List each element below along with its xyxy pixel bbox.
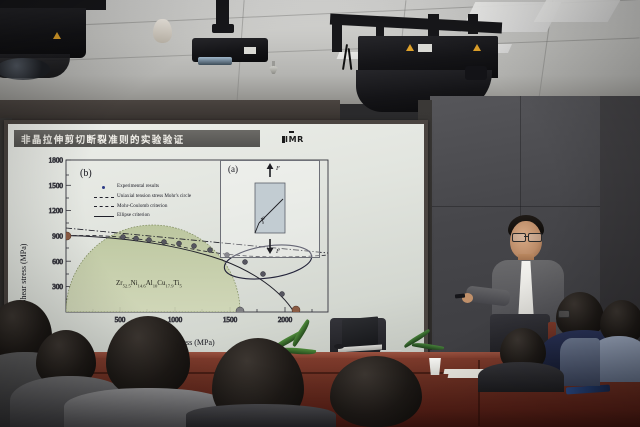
svg-text:300: 300 [52,283,63,291]
imr-logo-text: IMR [285,135,304,144]
audience-shoulder [186,404,336,427]
svg-text:1200: 1200 [49,207,64,215]
legend-label: Mohr-Coulomb criterion [117,202,167,212]
imr-logo: IMR [282,135,304,144]
audience-shoulder-jacket [560,338,600,386]
svg-text:1500: 1500 [223,316,238,324]
slide-title: 非晶拉伸剪切断裂准则的实验验证 [14,132,185,146]
endpoint-marker-right [292,306,300,314]
legend-item: Mohr-Coulomb criterion [94,202,191,212]
inset-panel-a: F F θ [220,160,320,258]
endpoint-marker-bottom [236,307,244,315]
svg-text:900: 900 [52,233,63,241]
endpoint-marker-left [63,232,71,240]
legend-item: Uniaxial tension stress Mohr's circle [94,192,191,202]
speaker-glasses-right [528,233,542,242]
chart-legend: Experimental results Uniaxial tension st… [94,182,191,221]
panel-b-label: (b) [80,168,92,179]
audience-glasses [558,310,570,318]
audience-shoulder [478,362,564,392]
svg-text:2000: 2000 [278,316,293,324]
panel-a-label: (a) [228,164,238,174]
inset-specimen-diagram: F F θ [221,161,319,257]
sprinkler-icon [268,61,279,75]
svg-text:F: F [275,165,281,172]
svg-text:1800: 1800 [49,157,64,165]
svg-text:600: 600 [52,258,63,266]
speaker-glasses-bridge [524,236,528,237]
legend-item: Ellipse criterion [94,211,191,221]
svg-text:1500: 1500 [49,182,64,190]
lecture-hall-photo: 非晶拉伸剪切断裂准则的实验验证 IMR 180 [0,0,640,427]
legend-marker-icon [94,184,114,190]
legend-label: Ellipse criterion [117,211,150,221]
imr-logo-tick [289,131,294,133]
legend-label: Uniaxial tension stress Mohr's circle [117,192,191,202]
svg-text:F: F [275,248,281,255]
legend-dashed-icon [94,194,114,200]
projector-left [0,8,86,58]
ceiling [0,0,640,104]
legend-label: Experimental results [117,182,159,192]
laptop-screen [342,316,378,347]
speaker-glasses-left [512,233,526,242]
y-axis-label: Shear stress (MPa) [19,244,28,304]
legend-dashdot-icon [94,203,114,209]
svg-text:θ: θ [262,216,265,222]
alloy-composition: Zr52.5Ni14.6Al10Cu17.9Ti5 [116,279,182,288]
legend-solid-icon [94,213,114,219]
smoke-detector-icon [153,19,172,43]
legend-item: Experimental results [94,182,191,192]
plant-right [402,330,462,364]
slide-title-bar: 非晶拉伸剪切断裂准则的实验验证 [14,130,260,147]
